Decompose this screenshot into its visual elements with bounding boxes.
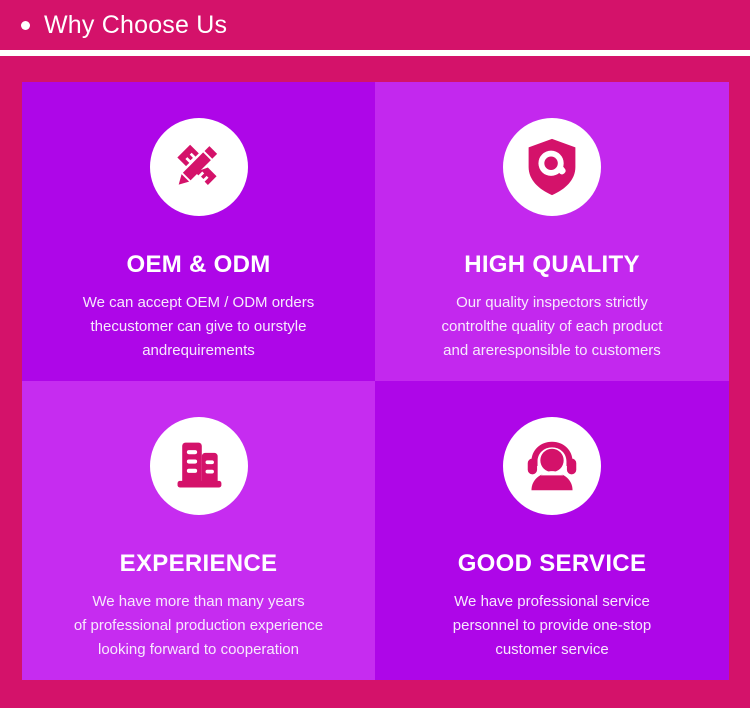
card-description: We have more than many years of professi… bbox=[74, 590, 323, 662]
card-description: Our quality inspectors strictly controlt… bbox=[442, 291, 663, 363]
card-description-line: looking forward to cooperation bbox=[74, 638, 323, 662]
card-title: OEM & ODM bbox=[126, 252, 270, 278]
card-description-line: customer service bbox=[453, 638, 651, 662]
bullet-dot-icon bbox=[21, 21, 30, 30]
feature-card-experience[interactable]: EXPERIENCE We have more than many years … bbox=[22, 381, 375, 680]
card-description-line: personnel to provide one-stop bbox=[453, 614, 651, 638]
card-title: GOOD SERVICE bbox=[458, 551, 647, 577]
card-description-line: Our quality inspectors strictly bbox=[442, 291, 663, 315]
card-description-line: andrequirements bbox=[83, 339, 314, 363]
card-description: We can accept OEM / ODM orders thecustom… bbox=[83, 291, 314, 363]
features-grid: OEM & ODM We can accept OEM / ODM orders… bbox=[22, 82, 729, 680]
card-description-line: of professional production experience bbox=[74, 614, 323, 638]
card-description: We have professional service personnel t… bbox=[453, 590, 651, 662]
buildings-icon bbox=[150, 417, 248, 515]
card-description-line: controlthe quality of each product bbox=[442, 315, 663, 339]
feature-card-oem-odm[interactable]: OEM & ODM We can accept OEM / ODM orders… bbox=[22, 82, 375, 381]
card-title: HIGH QUALITY bbox=[464, 252, 640, 278]
card-description-line: and areresponsible to customers bbox=[442, 339, 663, 363]
page-title: Why Choose Us bbox=[44, 13, 227, 38]
header-divider bbox=[0, 50, 750, 56]
pencil-ruler-icon bbox=[150, 118, 248, 216]
section-header: Why Choose Us bbox=[0, 0, 750, 50]
card-description-line: We have professional service bbox=[453, 590, 651, 614]
card-description-line: We have more than many years bbox=[74, 590, 323, 614]
shield-quality-icon bbox=[503, 118, 601, 216]
card-description-line: We can accept OEM / ODM orders bbox=[83, 291, 314, 315]
feature-card-high-quality[interactable]: HIGH QUALITY Our quality inspectors stri… bbox=[375, 82, 729, 381]
headset-agent-icon bbox=[503, 417, 601, 515]
card-title: EXPERIENCE bbox=[120, 551, 278, 577]
feature-card-good-service[interactable]: GOOD SERVICE We have professional servic… bbox=[375, 381, 729, 680]
card-description-line: thecustomer can give to ourstyle bbox=[83, 315, 314, 339]
